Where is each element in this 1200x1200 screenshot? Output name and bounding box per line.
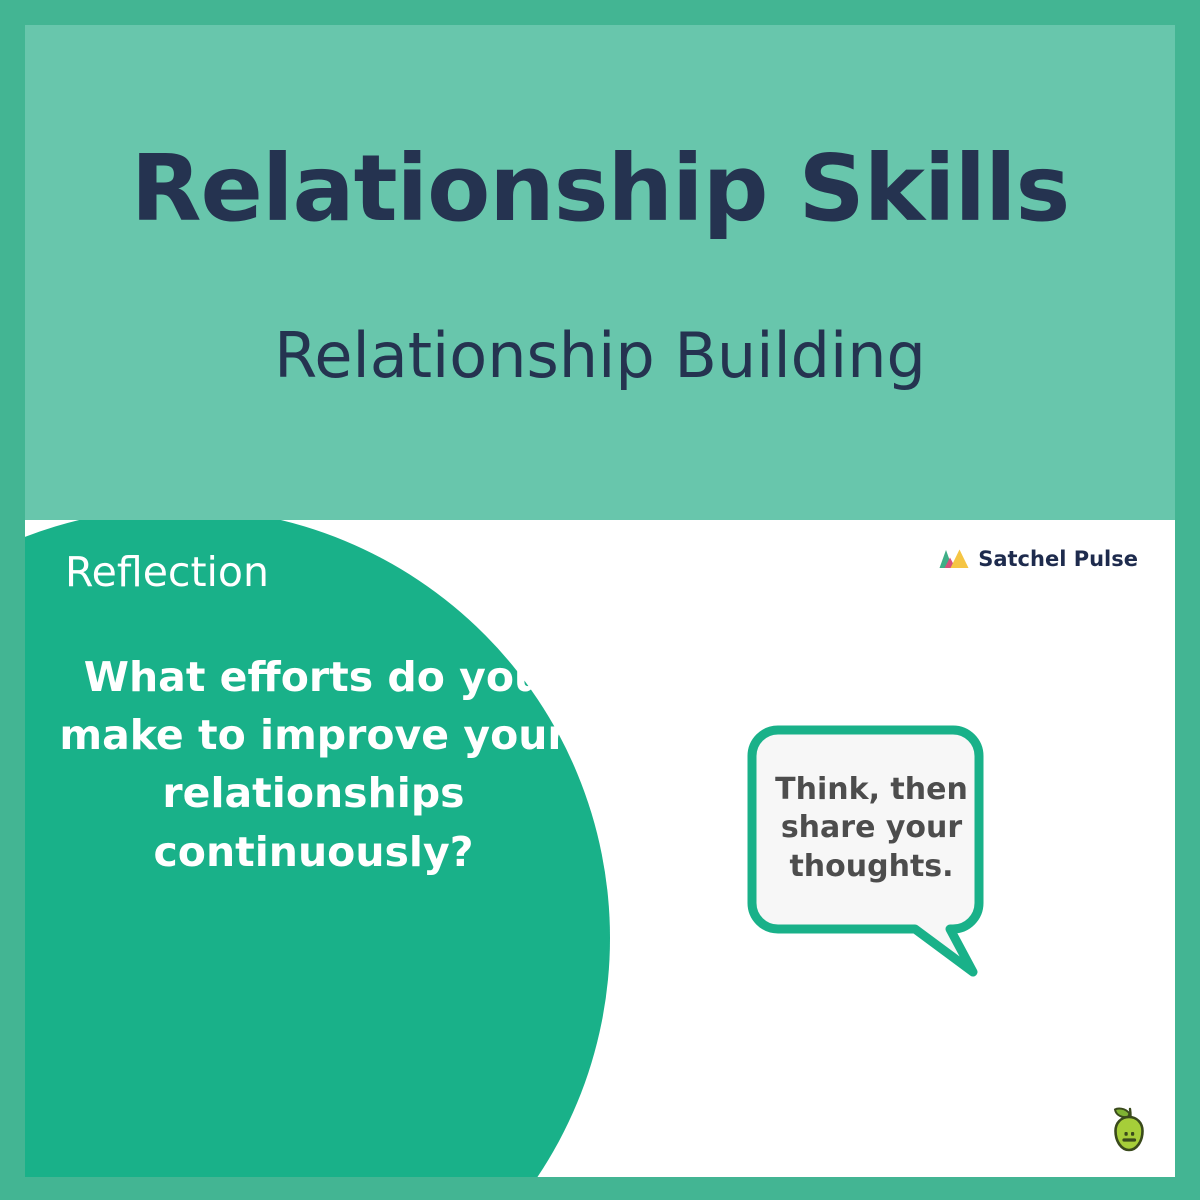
brand-logo: Satchel Pulse — [939, 548, 1138, 570]
section-label: Reflection — [65, 552, 269, 593]
slide-panel: Reflection What efforts do you make to i… — [25, 520, 1175, 1177]
poster-canvas: Relationship Skills Relationship Buildin… — [0, 0, 1200, 1200]
mountains-icon — [939, 548, 969, 570]
header-band: Relationship Skills Relationship Buildin… — [25, 25, 1175, 520]
page-subtitle: Relationship Building — [25, 325, 1175, 387]
brand-name: Satchel Pulse — [978, 549, 1138, 570]
pear-icon — [1106, 1103, 1152, 1155]
speech-bubble-text: Think, then share your thoughts. — [769, 771, 974, 886]
reflection-question: What efforts do you make to improve your… — [51, 648, 576, 881]
reflection-content: Reflection What efforts do you make to i… — [25, 520, 600, 1120]
page-title: Relationship Skills — [25, 143, 1175, 235]
speech-bubble: Think, then share your thoughts. — [747, 725, 997, 985]
